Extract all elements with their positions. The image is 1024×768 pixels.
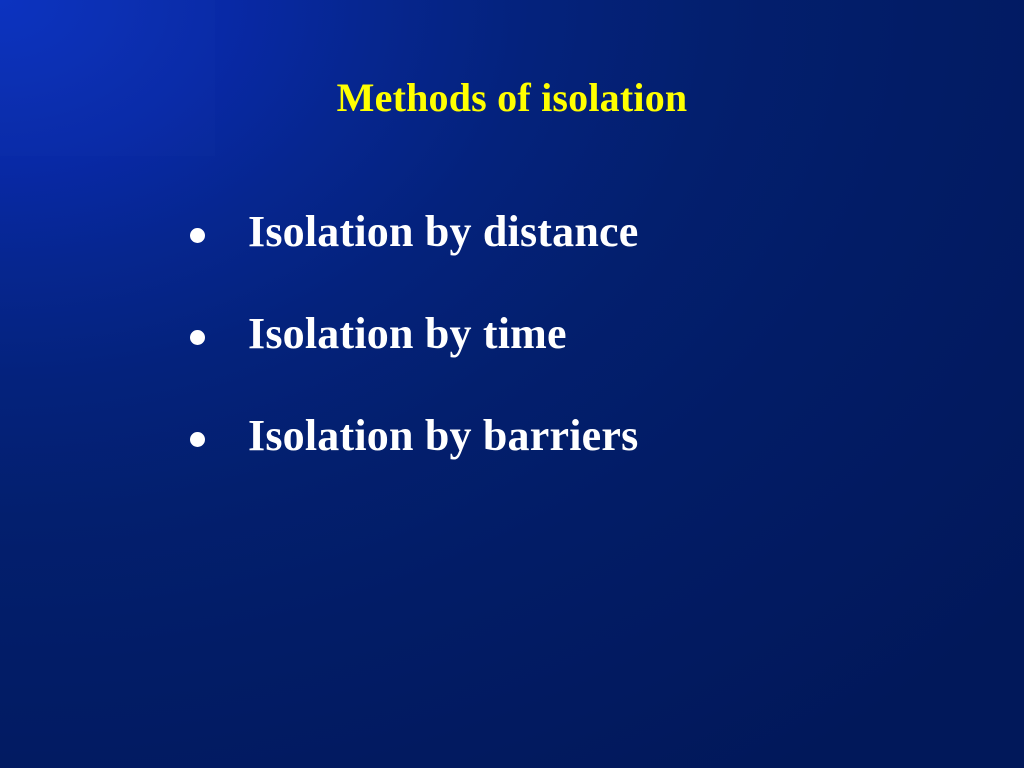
list-item: Isolation by time xyxy=(190,308,950,410)
bullet-list: Isolation by distance Isolation by time … xyxy=(190,206,950,512)
bullet-item-label: Isolation by barriers xyxy=(248,410,950,462)
slide-title: Methods of isolation xyxy=(0,74,1024,122)
presentation-slide: Methods of isolation Isolation by distan… xyxy=(0,0,1024,768)
bullet-dot-icon xyxy=(190,410,248,447)
bullet-dot-icon xyxy=(190,308,248,345)
list-item: Isolation by distance xyxy=(190,206,950,308)
bullet-item-label: Isolation by distance xyxy=(248,206,950,258)
slide-content: Methods of isolation Isolation by distan… xyxy=(0,0,1024,768)
list-item: Isolation by barriers xyxy=(190,410,950,512)
bullet-dot-icon xyxy=(190,206,248,243)
bullet-item-label: Isolation by time xyxy=(248,308,950,360)
